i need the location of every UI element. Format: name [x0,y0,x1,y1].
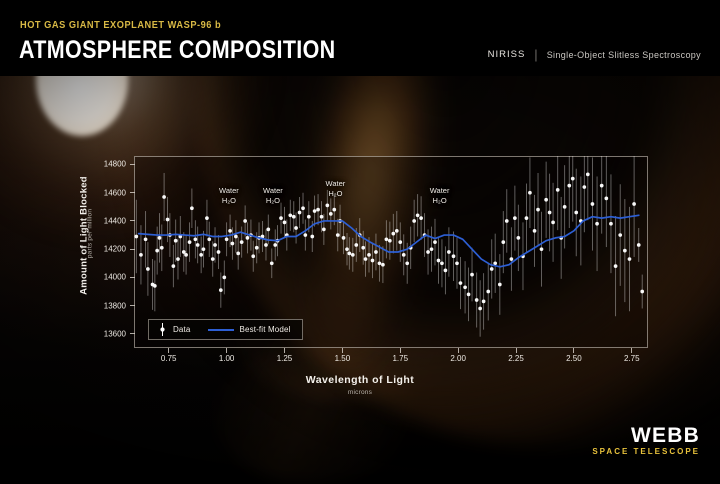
data-point [536,208,540,212]
data-point [510,257,514,261]
y-axis-tick-mark [130,220,135,221]
data-point [160,246,164,250]
data-point [199,253,203,257]
data-point [188,240,192,244]
data-point [493,261,497,265]
x-axis-tick-mark [226,348,227,353]
data-point [371,259,375,263]
data-point [525,216,529,220]
data-point [475,298,479,302]
data-point [374,250,378,254]
data-point [255,246,259,250]
data-point [174,239,178,243]
data-point [158,236,162,240]
x-axis-tick-mark [573,348,574,353]
data-point [470,273,474,277]
data-point [402,253,406,257]
data-point [347,252,351,256]
data-point [313,209,317,213]
header-bar: HOT GAS GIANT EXOPLANET WASP-96 b ATMOSP… [0,0,720,76]
data-point [246,236,250,240]
x-axis-tick-label: 1.50 [322,354,362,363]
x-axis-tick-mark [400,348,401,353]
data-point [455,261,459,265]
y-axis-tick-label: 14800 [82,160,126,169]
data-point [307,215,311,219]
data-point [219,288,223,292]
data-point [498,283,502,287]
data-point [231,242,235,246]
data-point [329,212,333,216]
data-point [516,236,520,240]
data-point [551,221,555,225]
data-point [388,239,392,243]
data-point [433,240,437,244]
data-point [604,197,608,201]
x-axis-tick-label: 1.75 [380,354,420,363]
data-point [298,211,302,215]
data-point [505,219,509,223]
data-point [447,250,451,254]
data-point [166,218,170,222]
data-point [637,243,641,247]
y-axis-tick-label: 14000 [82,273,126,282]
data-point [320,215,324,219]
x-axis-tick-label: 2.00 [438,354,478,363]
data-point [234,235,238,239]
data-point [134,235,138,239]
data-point [283,221,287,225]
data-point [591,202,595,206]
data-point [213,243,217,247]
y-axis-tick-mark [130,192,135,193]
x-axis-tick-mark [631,348,632,353]
data-point [240,240,244,244]
x-axis-tick-label: 2.75 [612,354,652,363]
data-point [482,300,486,304]
x-axis-label: Wavelength of Light [0,374,720,386]
x-axis-tick-label: 1.25 [264,354,304,363]
page-title: ATMOSPHERE COMPOSITION [19,36,336,65]
data-point [292,215,296,219]
webb-logo: WEBB SPACE TELESCOPE [592,425,700,458]
y-axis-tick-mark [130,277,135,278]
data-point [176,257,180,261]
legend-entry-data: Data [158,323,191,336]
data-point [595,222,599,226]
infographic-root: HOT GAS GIANT EXOPLANET WASP-96 b ATMOSP… [0,0,720,484]
model-line-icon [208,329,234,331]
data-point [381,263,385,267]
y-axis-tick-mark [130,164,135,165]
x-axis-tick-mark [342,348,343,353]
data-point [194,237,198,241]
x-axis-tick-label: 0.75 [149,354,189,363]
data-point [294,226,298,230]
instrument-credit: NIRISS | Single-Object Slitless Spectros… [488,48,701,61]
data-point [144,237,148,241]
y-axis-tick-label: 13800 [82,301,126,310]
data-point [533,229,537,233]
data-point [437,259,441,263]
data-point [205,216,209,220]
data-point [190,206,194,210]
data-point [640,290,644,294]
data-point [303,233,307,237]
legend-entry-model: Best-fit Model [208,325,291,334]
webb-logo-main: WEBB [592,425,700,446]
data-point [416,213,420,217]
data-point [571,177,575,181]
data-point [211,257,215,261]
legend-label-model: Best-fit Model [240,325,291,334]
data-point [155,249,159,253]
x-axis-tick-mark [168,348,169,353]
data-point [279,216,283,220]
data-point [395,229,399,233]
data-point [623,249,627,253]
data-point [548,211,552,215]
chart-legend: Data Best-fit Model [148,319,303,340]
data-point [463,285,467,289]
error-bars [136,156,642,337]
x-axis-tick-mark [284,348,285,353]
data-point [361,246,365,250]
data-point [426,250,430,254]
data-point [162,195,166,199]
data-point [444,269,448,273]
data-point [378,261,382,265]
data-point [614,264,618,268]
data-point [146,267,150,271]
data-point [459,281,463,285]
data-point [528,191,532,195]
x-axis-tick-mark [458,348,459,353]
data-point [440,261,444,265]
data-point [322,228,326,232]
data-point [412,219,416,223]
data-point [332,208,336,212]
spectrum-plot: Data Best-fit Model [134,156,648,348]
data-point [288,213,292,217]
x-axis-tick-label: 2.50 [554,354,594,363]
data-point [325,204,329,208]
y-axis-tick-label: 14600 [82,188,126,197]
data-point [196,243,200,247]
x-axis-tick-label: 2.25 [496,354,536,363]
data-point [354,243,358,247]
data-point [385,237,389,241]
data-point [364,257,368,261]
data-point [202,247,206,251]
data-point [273,243,277,247]
webb-logo-sub: SPACE TELESCOPE [592,446,700,458]
observing-mode: Single-Object Slitless Spectroscopy [547,50,701,60]
y-axis-tick-label: 14400 [82,216,126,225]
y-axis-tick-label: 13600 [82,329,126,338]
data-point [264,243,268,247]
data-point [513,216,517,220]
data-point [501,240,505,244]
data-point [270,261,274,265]
data-point [618,233,622,237]
y-axis-tick-mark [130,333,135,334]
data-point [467,293,471,297]
data-point [367,253,371,257]
data-point [243,219,247,223]
instrument-name: NIRISS [488,49,526,60]
credit-divider: | [534,48,537,61]
x-axis-units: microns [0,389,720,396]
data-point [628,257,632,261]
data-point [486,290,490,294]
data-point [236,252,240,256]
data-point [172,264,176,268]
data-point [310,235,314,239]
legend-label-data: Data [173,325,191,334]
y-axis-tick-mark [130,249,135,250]
data-point [582,185,586,189]
data-marker-icon [158,323,167,336]
data-point [139,253,143,257]
data-point [217,250,221,254]
data-point [574,211,578,215]
data-point [342,236,346,240]
data-point [632,202,636,206]
data-point [478,307,482,311]
data-point [452,254,456,258]
data-point [567,184,571,188]
data-point [430,247,434,251]
x-axis-tick-mark [516,348,517,353]
data-point [336,233,340,237]
data-point [490,267,494,271]
data-point [540,247,544,251]
y-axis-tick-mark [130,305,135,306]
data-point [207,237,211,241]
data-point [222,276,226,280]
data-point [609,222,613,226]
data-point [153,284,157,288]
data-point [225,237,229,241]
data-point [586,173,590,177]
data-point [544,198,548,202]
data-point [184,253,188,257]
data-point [351,253,355,257]
data-points [134,173,644,311]
data-point [266,228,270,232]
data-point [316,208,320,212]
data-point [600,184,604,188]
data-point [419,216,423,220]
data-point [398,240,402,244]
data-point [301,206,305,210]
x-axis-tick-label: 1.00 [207,354,247,363]
data-point [228,229,232,233]
eyebrow-text: HOT GAS GIANT EXOPLANET WASP-96 b [20,19,221,31]
data-point [345,247,349,251]
data-point [556,188,560,192]
data-point [391,232,395,236]
data-point [405,261,409,265]
y-axis-tick-label: 14200 [82,245,126,254]
data-point [251,254,255,258]
data-point [563,205,567,209]
